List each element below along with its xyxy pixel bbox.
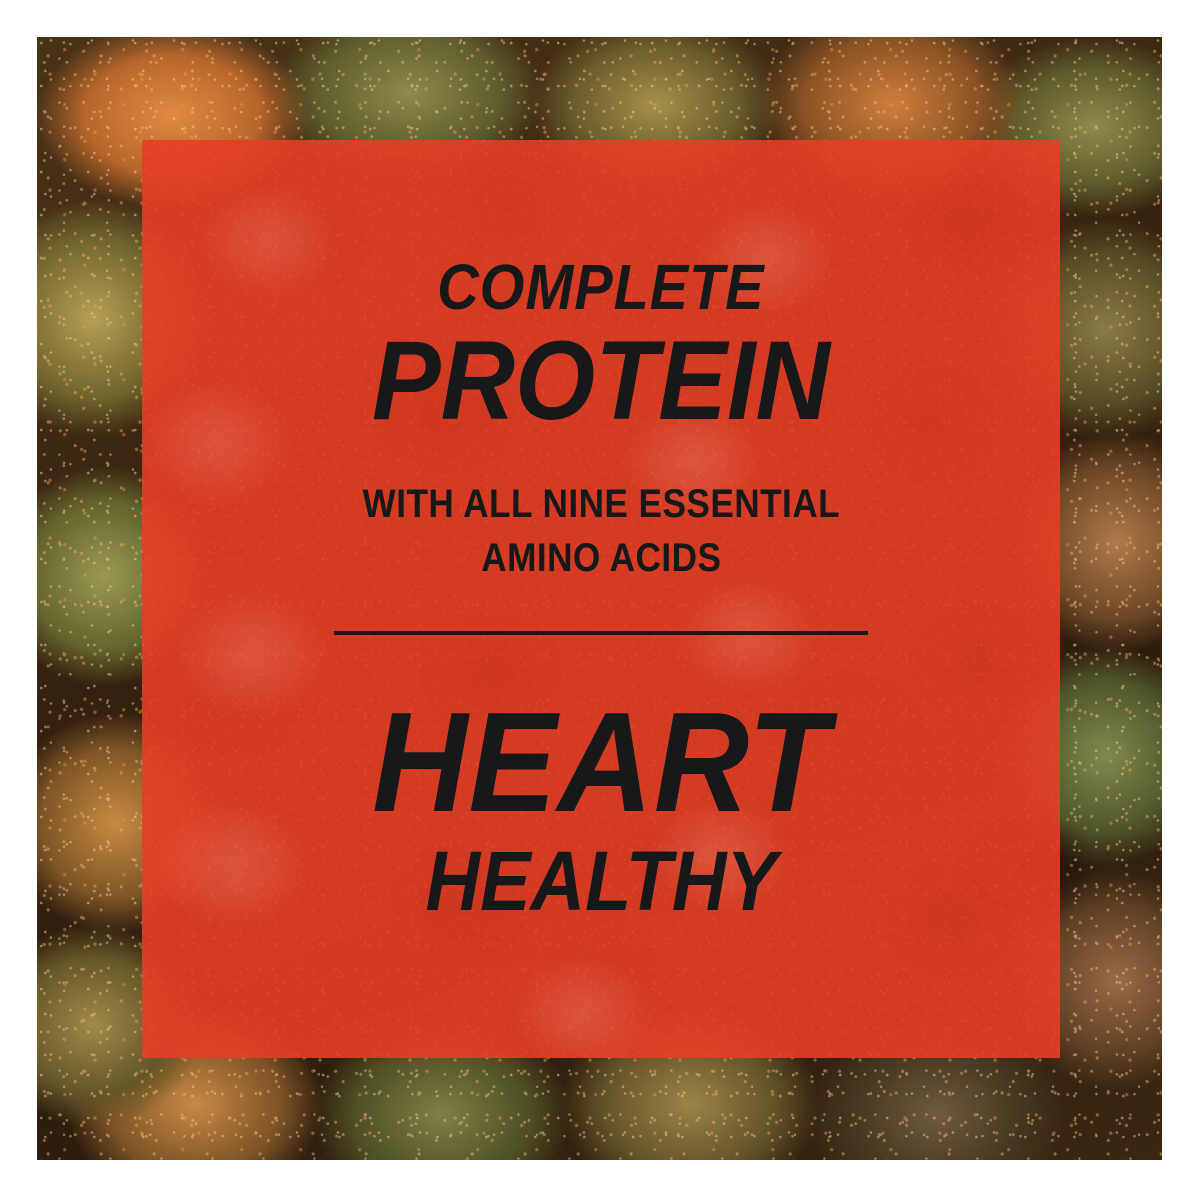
claim-main: HEART bbox=[372, 699, 829, 827]
subhead: WITH ALL NINE ESSENTIAL AMINO ACIDS bbox=[362, 478, 840, 585]
divider-rule bbox=[334, 631, 868, 635]
red-overlay-panel: COMPLETE PROTEIN WITH ALL NINE ESSENTIAL… bbox=[142, 140, 1060, 1058]
callout-text-block: COMPLETE PROTEIN WITH ALL NINE ESSENTIAL… bbox=[142, 140, 1060, 1058]
callout-card: COMPLETE PROTEIN WITH ALL NINE ESSENTIAL… bbox=[0, 0, 1200, 1200]
headline-eyebrow: COMPLETE bbox=[437, 258, 764, 317]
headline-main: PROTEIN bbox=[372, 329, 830, 432]
subhead-line-2: AMINO ACIDS bbox=[362, 532, 840, 586]
subhead-line-1: WITH ALL NINE ESSENTIAL bbox=[362, 478, 840, 532]
claim-sub: HEALTHY bbox=[425, 843, 776, 920]
